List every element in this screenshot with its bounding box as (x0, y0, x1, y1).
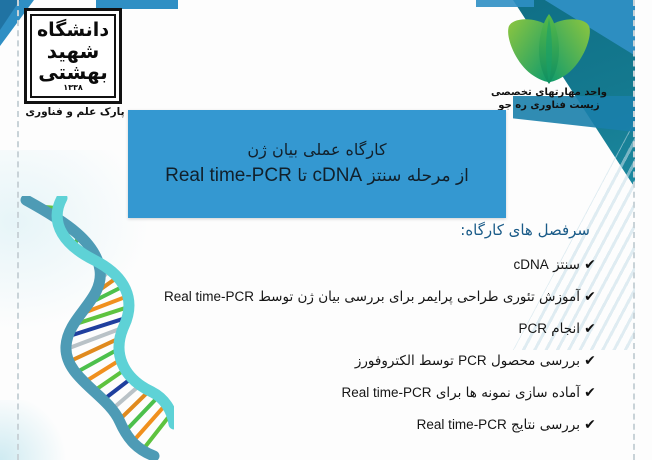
workshop-title-mid: تا (292, 166, 313, 186)
agenda-item-text: بررسی نتایج (507, 417, 580, 433)
agenda-heading: سرفصل های کارگاه: (460, 221, 590, 239)
dna-base-pair-rung (125, 396, 159, 431)
logo-year: ۱۳۳۸ (63, 84, 83, 92)
agenda-item-text: انجام (547, 321, 580, 337)
dna-base-pair-rung (142, 414, 171, 451)
workshop-title-prefix: از مرحله سنتز (362, 166, 469, 186)
check-mark-icon: ✔ (580, 319, 600, 340)
check-mark-icon: ✔ (580, 383, 600, 404)
top-strip-right (476, 0, 534, 7)
check-mark-icon: ✔ (580, 287, 600, 308)
agenda-item-text: بررسی محصول (487, 353, 580, 369)
dna-base-pair-rung (119, 391, 149, 420)
agenda-item-term: Real time-PCR (164, 289, 254, 304)
agenda-item-tail: توسط الکتروفورز (355, 353, 458, 369)
check-mark-icon: ✔ (580, 255, 600, 276)
workshop-title-term1: cDNA (313, 165, 363, 186)
dna-double-helix-illustration (4, 196, 174, 460)
agenda-item-label: انجام PCR (518, 319, 580, 339)
agenda-item-term: PCR (458, 353, 487, 368)
logo-calligraphy-line3: بهشتی (38, 62, 107, 82)
biotech-unit-label: واحد مهارتهای تخصصی زیست فناوری ره جو (486, 87, 612, 112)
agenda-item-text: سنتز (549, 257, 580, 273)
biotech-unit-logo: واحد مهارتهای تخصصی زیست فناوری ره جو (486, 12, 612, 120)
agenda-item-term: Real time-PCR (417, 417, 507, 432)
green-leaf-book-icon (486, 12, 612, 86)
agenda-item-label: بررسی محصول PCR توسط الکتروفورز (355, 351, 580, 371)
logo-calligraphy-line1: دانشگاه (37, 21, 109, 40)
agenda-item-label: آموزش تئوری طراحی پرایمر برای بررسی بیان… (164, 287, 580, 307)
dna-base-pair-rung (76, 349, 119, 373)
agenda-item-text: آماده سازی نمونه ها برای (432, 385, 580, 401)
agenda-item-term: cDNA (514, 257, 549, 272)
logo-calligraphy: دانشگاه شهید بهشتی ۱۳۳۸ (24, 8, 122, 104)
logo-calligraphy-line2: شهید (47, 41, 100, 61)
workshop-title-line2: از مرحله سنتز cDNA تا Real time-PCR (165, 162, 469, 190)
dna-base-pair-rung (133, 404, 166, 442)
workshop-title-term2: Real time-PCR (165, 165, 292, 186)
agenda-item-term: Real time-PCR (342, 385, 432, 400)
poster-canvas: دانشگاه شهید بهشتی ۱۳۳۸ پارک علم و فناور… (0, 0, 652, 460)
workshop-title-box: کارگاه عملی بیان ژن از مرحله سنتز cDNA ت… (128, 110, 506, 218)
agenda-item-term: PCR (518, 321, 547, 336)
logo-subtitle: پارک علم و فناوری (14, 106, 136, 118)
agenda-item-label: آماده سازی نمونه ها برای Real time-PCR (342, 383, 580, 403)
workshop-title-line1: کارگاه عملی بیان ژن (247, 138, 386, 161)
university-logo: دانشگاه شهید بهشتی ۱۳۳۸ پارک علم و فناور… (14, 6, 136, 128)
dashed-border-right (633, 0, 635, 460)
agenda-item-label: بررسی نتایج Real time-PCR (417, 415, 580, 435)
check-mark-icon: ✔ (580, 351, 600, 372)
biotech-unit-line1: واحد مهارتهای تخصصی (486, 87, 612, 100)
agenda-item-text: آموزش تئوری طراحی پرایمر برای بررسی بیان… (254, 289, 580, 305)
agenda-item-label: سنتز cDNA (514, 255, 580, 275)
dna-base-pair-rung (69, 338, 120, 362)
check-mark-icon: ✔ (580, 415, 600, 436)
